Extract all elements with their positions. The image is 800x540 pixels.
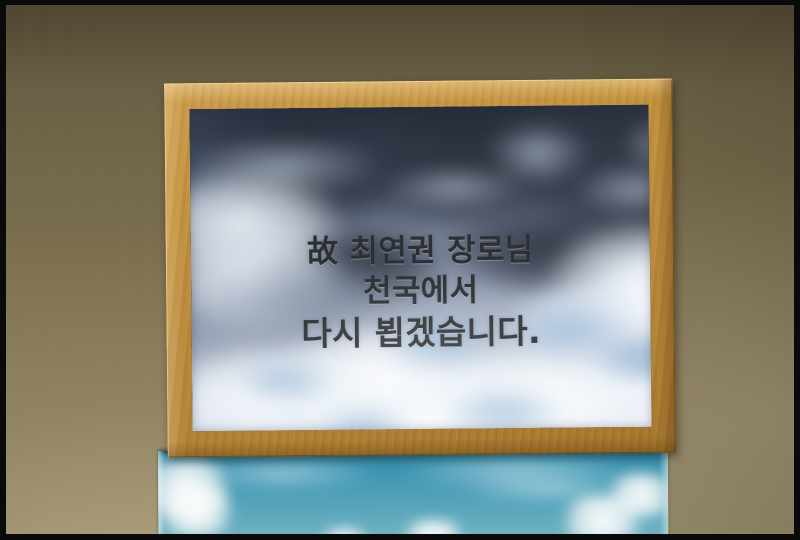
photo-canvas: 故 최연권 장로님 천국에서 다시 뵙겠습니다. xyxy=(0,0,800,540)
banner-cloud xyxy=(394,520,472,534)
sky-banner xyxy=(158,449,668,534)
screen-recess: 故 최연권 장로님 천국에서 다시 뵙겠습니다. xyxy=(189,105,651,431)
banner-cloud xyxy=(314,528,374,534)
banner-right-edge xyxy=(659,449,668,534)
photo-content: 故 최연권 장로님 천국에서 다시 뵙겠습니다. xyxy=(6,5,794,534)
picture-frame: 故 최연권 장로님 천국에서 다시 뵙겠습니다. xyxy=(164,79,676,458)
banner-cloud xyxy=(158,485,244,534)
banner-left-edge xyxy=(158,451,165,534)
projection-screen: 故 최연권 장로님 천국에서 다시 뵙겠습니다. xyxy=(189,105,651,431)
sky-gap xyxy=(442,388,562,432)
